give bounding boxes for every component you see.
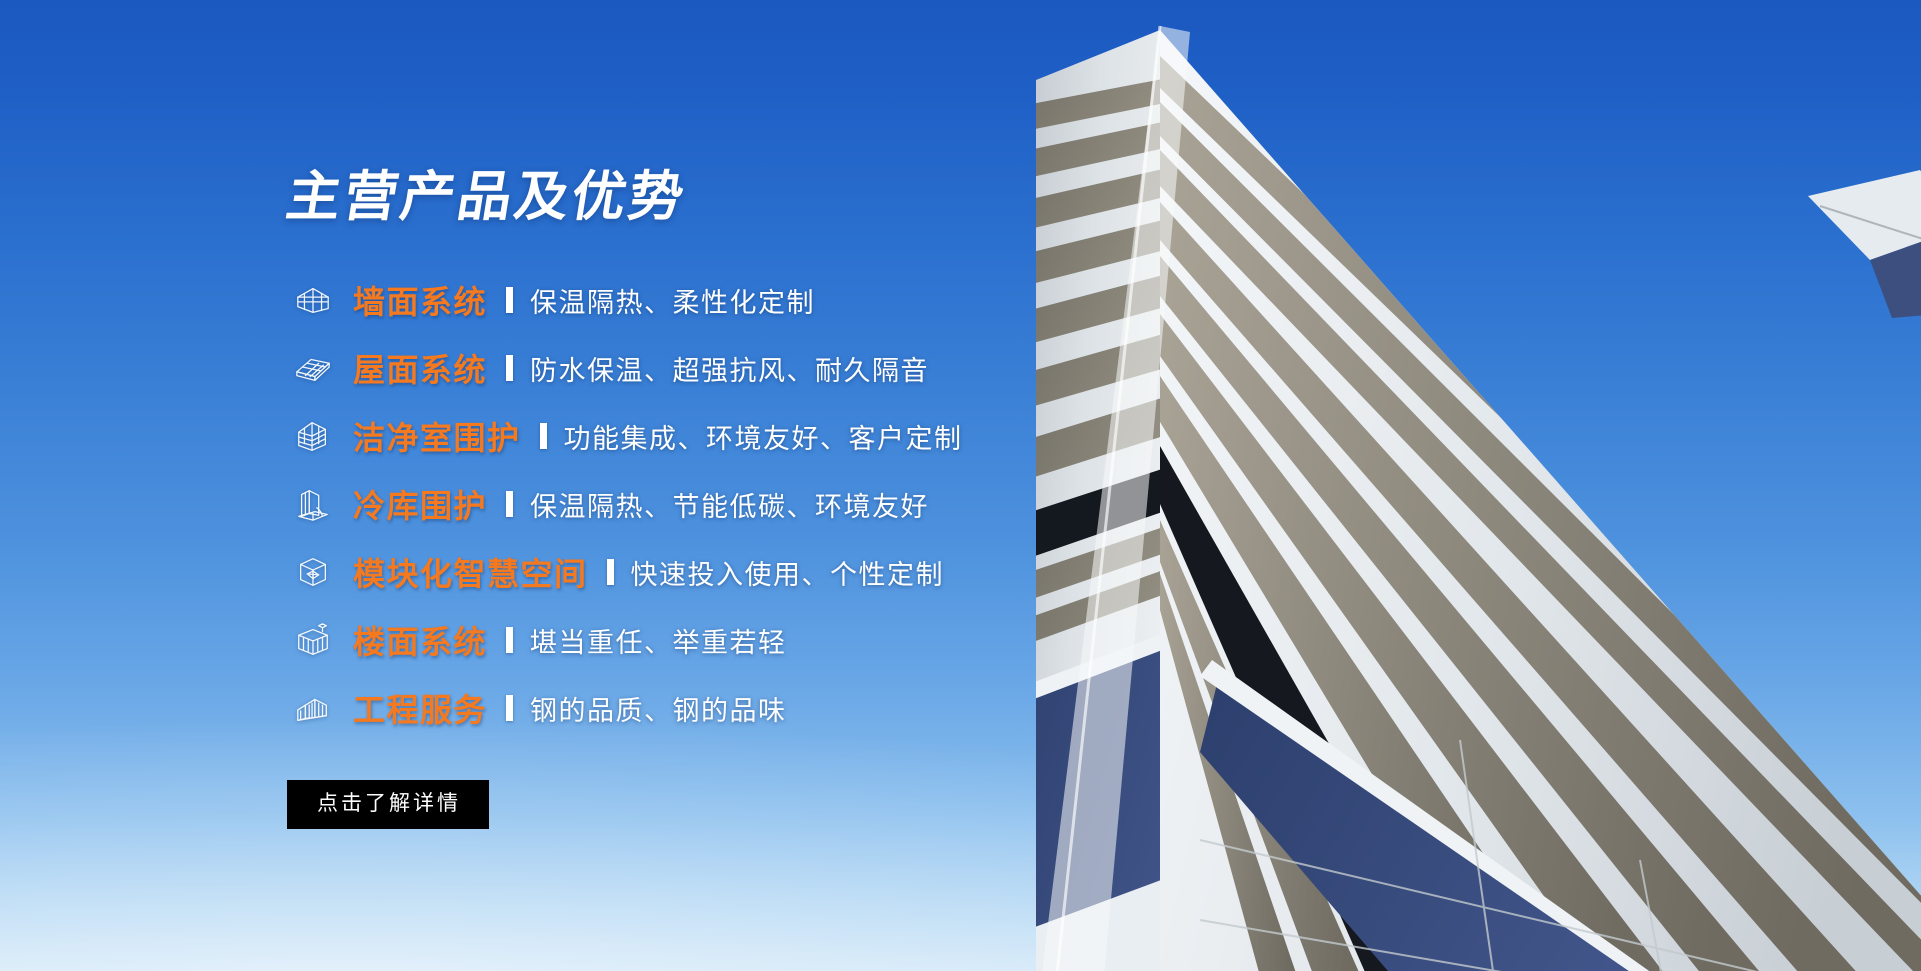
floor-deck-icon (287, 621, 339, 659)
modular-cube-icon (287, 553, 339, 591)
product-row[interactable]: 墙面系统 保温隔热、柔性化定制 (287, 266, 1387, 334)
product-title: 工程服务 (353, 685, 487, 731)
product-row[interactable]: 工程服务 钢的品质、钢的品味 (287, 674, 1387, 742)
wall-panel-icon (287, 281, 339, 319)
product-title: 洁净室围护 (353, 413, 521, 459)
product-desc: 保温隔热、柔性化定制 (530, 281, 815, 320)
product-desc: 钢的品质、钢的品味 (530, 689, 787, 728)
banner-content: 主营产品及优势 墙面系统 保温隔热、柔性化定制 (287, 170, 1387, 829)
product-list: 墙面系统 保温隔热、柔性化定制 屋面系统 (287, 266, 1387, 742)
product-desc: 防水保温、超强抗风、耐久隔音 (530, 349, 929, 388)
page-title: 主营产品及优势 (283, 170, 1392, 224)
separator-bar (506, 355, 513, 381)
cleanroom-building-icon (287, 417, 339, 455)
separator-bar (506, 695, 513, 721)
product-title: 冷库围护 (353, 481, 487, 527)
roof-panel-icon (287, 349, 339, 387)
product-title: 楼面系统 (353, 617, 487, 663)
cold-storage-icon (287, 485, 339, 523)
product-desc: 保温隔热、节能低碳、环境友好 (530, 485, 929, 524)
product-title: 屋面系统 (353, 345, 487, 391)
product-row[interactable]: 冷库围护 保温隔热、节能低碳、环境友好 (287, 470, 1387, 538)
separator-bar (607, 559, 614, 585)
product-desc: 堪当重任、举重若轻 (530, 621, 787, 660)
separator-bar (540, 423, 547, 449)
product-row[interactable]: 模块化智慧空间 快速投入使用、个性定制 (287, 538, 1387, 606)
product-desc: 快速投入使用、个性定制 (631, 553, 945, 592)
engineering-service-icon (287, 689, 339, 727)
promo-banner: 主营产品及优势 墙面系统 保温隔热、柔性化定制 (0, 0, 1921, 971)
separator-bar (506, 287, 513, 313)
product-row[interactable]: 屋面系统 防水保温、超强抗风、耐久隔音 (287, 334, 1387, 402)
product-title: 模块化智慧空间 (353, 549, 588, 595)
product-row[interactable]: 洁净室围护 功能集成、环境友好、客户定制 (287, 402, 1387, 470)
product-title: 墙面系统 (353, 277, 487, 323)
learn-more-button[interactable]: 点击了解详情 (287, 780, 489, 829)
separator-bar (506, 491, 513, 517)
product-row[interactable]: 楼面系统 堪当重任、举重若轻 (287, 606, 1387, 674)
separator-bar (506, 627, 513, 653)
product-desc: 功能集成、环境友好、客户定制 (564, 417, 963, 456)
